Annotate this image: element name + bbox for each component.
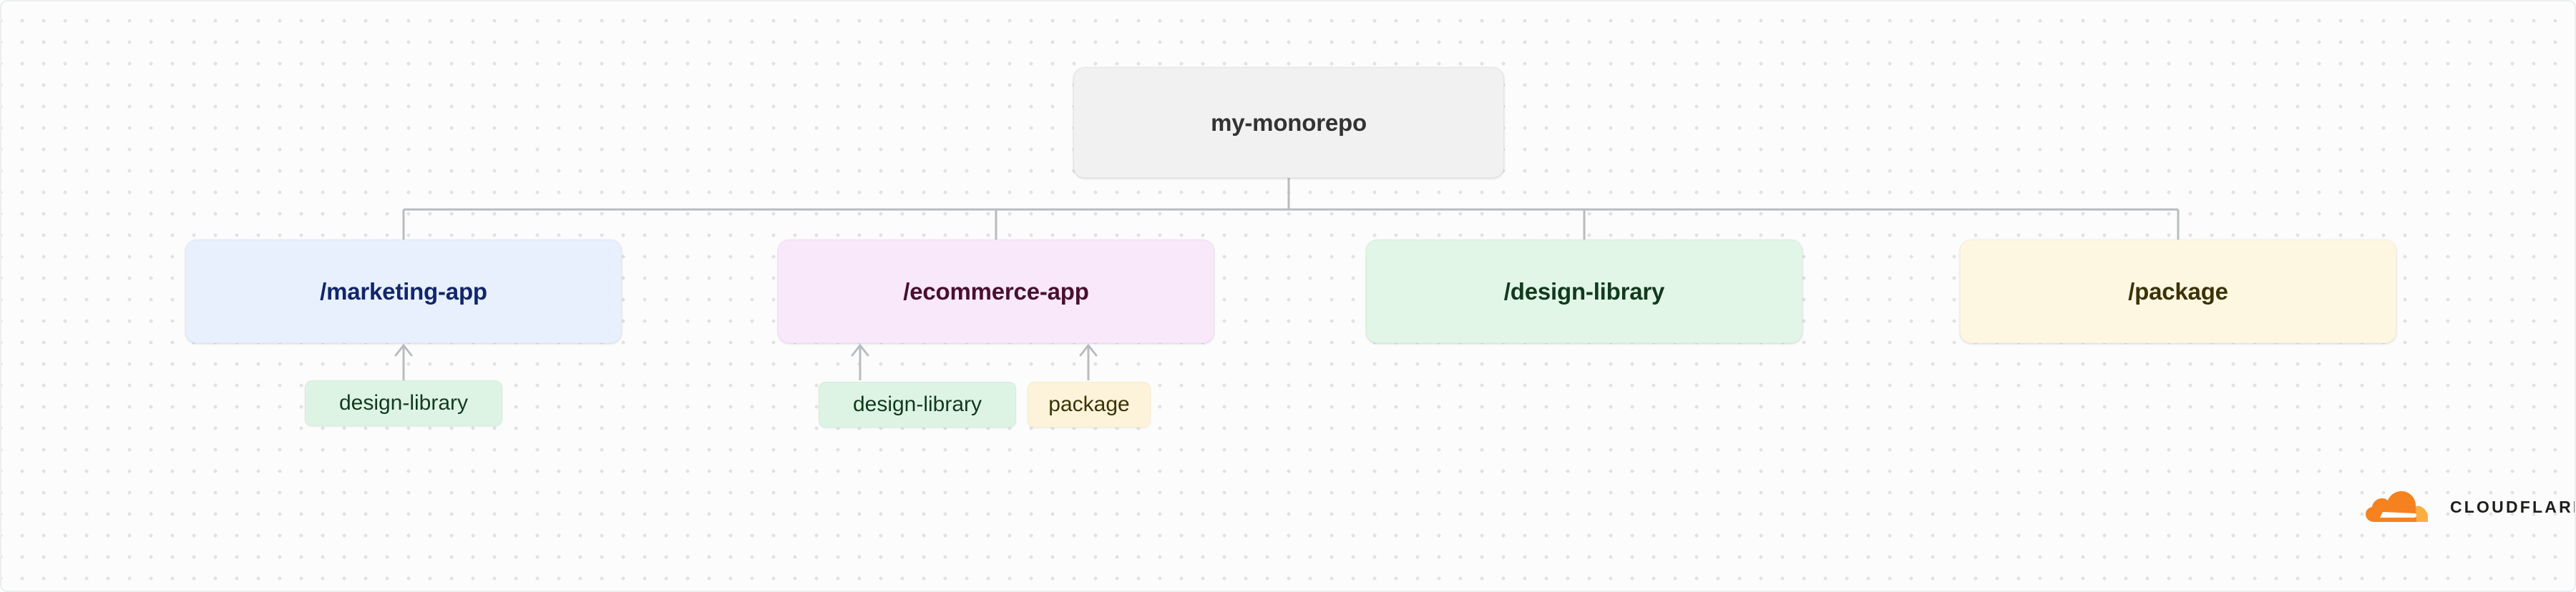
node-label: /marketing-app <box>320 278 487 305</box>
arrow-head-marketing-design-library <box>396 345 411 355</box>
arrow-head-ecommerce-design-library <box>852 345 868 355</box>
node-label: my-monorepo <box>1211 109 1367 137</box>
node-design-library[interactable]: /design-library <box>1366 240 1802 343</box>
cloudflare-logo: CLOUDFLARE <box>2364 490 2576 523</box>
node-ecommerce-app[interactable]: /ecommerce-app <box>778 240 1214 343</box>
dependency-pill-marketing-design-library[interactable]: design-library <box>305 380 502 426</box>
diagram-canvas: my-monorepo /marketing-app /ecommerce-ap… <box>0 0 2576 592</box>
node-package[interactable]: /package <box>1960 240 2396 343</box>
dependency-pill-label: design-library <box>339 391 468 415</box>
arrow-head-ecommerce-package <box>1080 345 1096 355</box>
cloudflare-cloud-icon <box>2364 490 2441 523</box>
node-label: /design-library <box>1504 278 1664 305</box>
node-marketing-app[interactable]: /marketing-app <box>185 240 622 343</box>
node-my-monorepo[interactable]: my-monorepo <box>1073 67 1504 178</box>
cloudflare-wordmark: CLOUDFLARE <box>2450 498 2576 517</box>
node-label: /ecommerce-app <box>903 278 1088 305</box>
dependency-pill-ecommerce-design-library[interactable]: design-library <box>819 382 1016 428</box>
node-label: /package <box>2128 278 2228 305</box>
dependency-pill-ecommerce-package[interactable]: package <box>1028 382 1151 428</box>
dependency-pill-label: package <box>1048 393 1129 417</box>
dependency-pill-label: design-library <box>853 393 982 417</box>
